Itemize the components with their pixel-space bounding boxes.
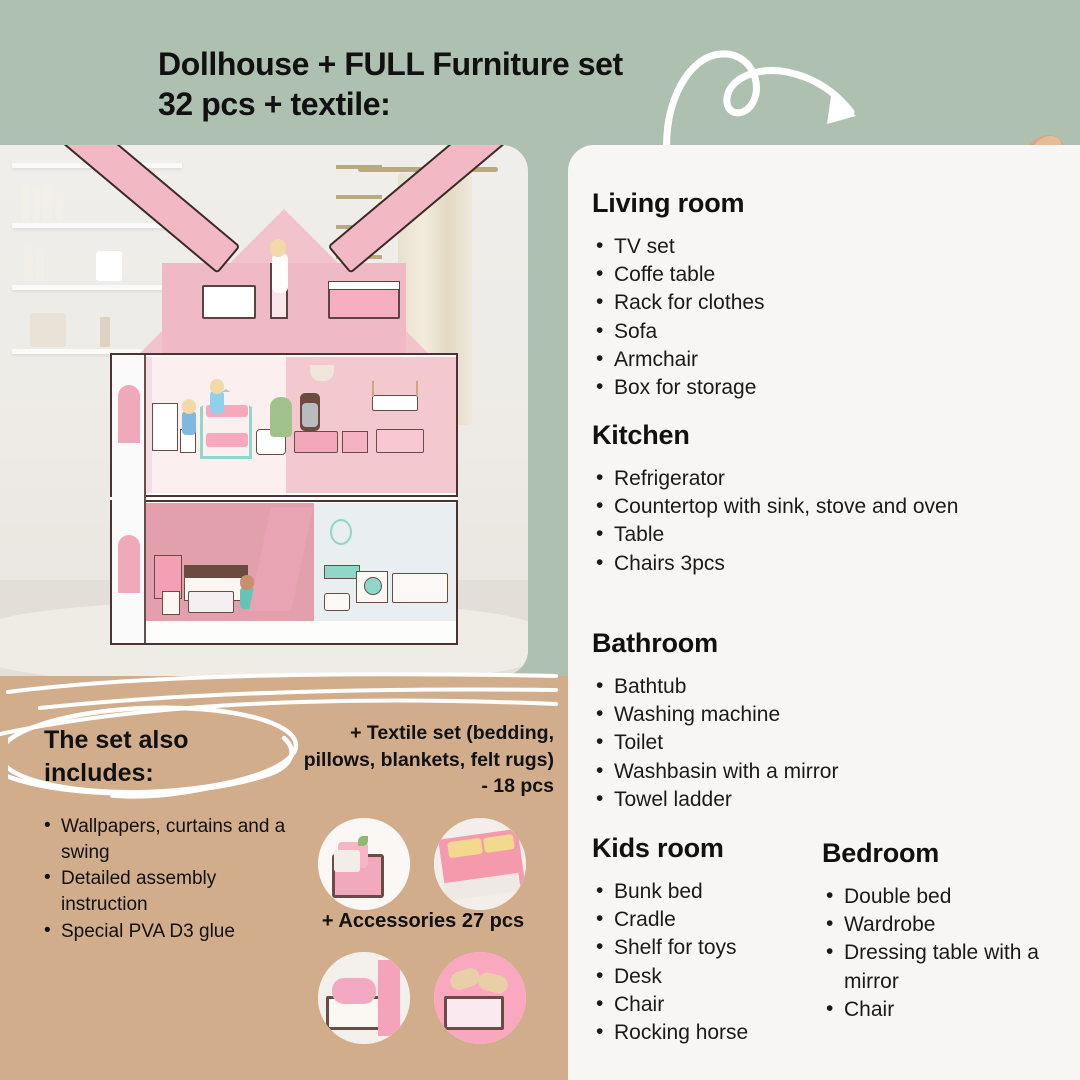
room-list-bedroom: Double bed Wardrobe Dressing table with …: [822, 883, 1072, 1024]
photo-shelf-item: [56, 191, 63, 221]
section-title-kitchen: Kitchen: [592, 420, 1012, 451]
dollhouse-lamp: [310, 365, 334, 381]
dollhouse-bunk-bed: [328, 287, 400, 319]
dollhouse-sofa: [294, 431, 338, 453]
list-item: Armchair: [592, 346, 1032, 374]
section-title-bathroom: Bathroom: [592, 628, 1012, 659]
list-item: Coffe table: [592, 261, 1032, 289]
doll-head: [182, 399, 196, 414]
room-list-bathroom: Bathtub Washing machine Toilet Washbasin…: [592, 673, 1012, 814]
section-title-bedroom: Bedroom: [822, 838, 1072, 869]
dollhouse-bedding: [328, 281, 400, 290]
list-item: Dressing table with a mirror: [822, 939, 1072, 995]
list-item: Wardrobe: [822, 911, 1072, 939]
photo-shelf-item: [33, 189, 40, 221]
list-item: Refrigerator: [592, 465, 1012, 493]
list-item: Table: [592, 521, 1012, 549]
dollhouse-kitchen-table: [188, 591, 234, 613]
dollhouse-toilet: [324, 593, 350, 611]
dollhouse-storage-box: [342, 431, 368, 453]
dollhouse-bathtub: [392, 573, 448, 603]
room-section-living: Living room TV set Coffe table Rack for …: [592, 188, 1032, 402]
page-title-line-2: 32 pcs + textile:: [158, 84, 698, 124]
section-title-living-room: Living room: [592, 188, 1032, 219]
list-item: Special PVA D3 glue: [44, 919, 294, 945]
thumb-armchair-pillows: [318, 818, 410, 910]
doll-figure: [210, 391, 224, 413]
dollhouse-arch-window-lower: [118, 535, 140, 593]
section-title-kids-room: Kids room: [592, 833, 822, 864]
list-item: Chair: [592, 991, 822, 1019]
textile-set-title: + Textile set (bedding, pillows, blanket…: [292, 720, 554, 800]
thumb-flower-box: [318, 952, 410, 1044]
dollhouse-floor-divider: [110, 495, 458, 502]
list-item: Double bed: [822, 883, 1072, 911]
list-item: Rocking horse: [592, 1019, 822, 1047]
list-item: Box for storage: [592, 374, 1032, 402]
room-section-kitchen: Kitchen Refrigerator Countertop with sin…: [592, 420, 1012, 578]
page-title-line-1: Dollhouse + FULL Furniture set: [158, 44, 698, 84]
room-list-kids: Bunk bed Cradle Shelf for toys Desk Chai…: [592, 878, 822, 1047]
list-item: Towel ladder: [592, 786, 1012, 814]
doll-head: [240, 575, 254, 590]
thumb-bedding-blanket: [434, 818, 526, 910]
doll-figure: [182, 411, 196, 435]
room-section-bathroom: Bathroom Bathtub Washing machine Toilet …: [592, 628, 1012, 814]
dollhouse-armchair: [376, 429, 424, 453]
photo-shelf-item: [30, 313, 66, 347]
doll-head: [210, 379, 224, 394]
photo-shelf-item: [24, 245, 32, 281]
dollhouse-plant: [270, 397, 292, 437]
extras-heading: The set also includes:: [44, 724, 284, 789]
list-item: Bathtub: [592, 673, 1012, 701]
list-item: Countertop with sink, stove and oven: [592, 493, 1012, 521]
room-section-bedroom: Bedroom Double bed Wardrobe Dressing tab…: [822, 838, 1072, 1024]
room-list-living: TV set Coffe table Rack for clothes Sofa…: [592, 233, 1032, 402]
dollhouse-product-photo: [0, 145, 528, 676]
extras-list: Wallpapers, curtains and a swing Detaile…: [44, 814, 294, 945]
list-item: TV set: [592, 233, 1032, 261]
doll-figure: [302, 403, 318, 427]
dollhouse-swing-rope: [416, 381, 418, 397]
dollhouse-desk: [152, 403, 178, 451]
list-item: Desk: [592, 963, 822, 991]
list-item: Shelf for toys: [592, 934, 822, 962]
room-section-kids: Kids room Bunk bed Cradle Shelf for toys…: [592, 833, 822, 1047]
list-item: Sofa: [592, 318, 1032, 346]
list-item: Chairs 3pcs: [592, 550, 1012, 578]
list-item: Washbasin with a mirror: [592, 758, 1012, 786]
thumb-game-controllers: [434, 952, 526, 1044]
dollhouse-arch-window-upper: [118, 385, 140, 443]
dollhouse-washer-door: [364, 577, 382, 595]
dollhouse-countertop: [184, 565, 248, 577]
list-item: Cradle: [592, 906, 822, 934]
list-item: Chair: [822, 996, 1072, 1024]
extras-heading-line-1: The set also: [44, 726, 189, 754]
accessories-title: + Accessories 27 pcs: [292, 910, 554, 933]
list-item: Toilet: [592, 729, 1012, 757]
dollhouse-swing-rope: [372, 381, 374, 397]
list-item: Wallpapers, curtains and a swing: [44, 814, 294, 865]
list-item: Washing machine: [592, 701, 1012, 729]
extras-heading-line-2: includes:: [44, 759, 154, 787]
page-title: Dollhouse + FULL Furniture set 32 pcs + …: [158, 44, 698, 124]
list-item: Bunk bed: [592, 878, 822, 906]
room-list-kitchen: Refrigerator Countertop with sink, stove…: [592, 465, 1012, 578]
photo-shelf-item: [43, 183, 52, 221]
list-item: Detailed assembly instruction: [44, 866, 294, 917]
dollhouse-mattress: [206, 433, 248, 447]
doll-head: [270, 239, 286, 257]
dollhouse-crib: [202, 285, 256, 319]
doll-figure: [272, 253, 288, 293]
dollhouse-structure: [84, 167, 484, 653]
dollhouse-mirror: [330, 519, 352, 545]
curly-arrow-icon: [655, 28, 890, 158]
photo-shelf-item: [36, 249, 44, 281]
dollhouse-swing: [372, 395, 418, 411]
dollhouse-washbasin-shelf: [324, 565, 360, 579]
photo-shelf-item: [22, 185, 30, 221]
dollhouse-chair: [162, 591, 180, 615]
list-item: Rack for clothes: [592, 289, 1032, 317]
